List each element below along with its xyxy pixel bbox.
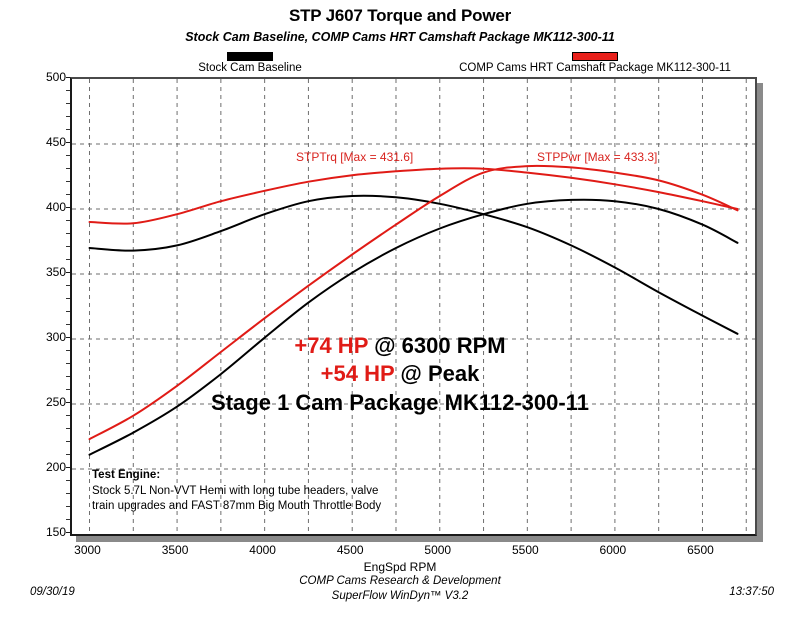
y-tick-150: 150 bbox=[26, 526, 66, 538]
legend-label-baseline: Stock Cam Baseline bbox=[125, 62, 375, 74]
y-tick-450: 450 bbox=[26, 136, 66, 148]
legend-swatch-comp-cams bbox=[572, 52, 618, 61]
footer-center: COMP Cams Research & Development SuperFl… bbox=[0, 574, 800, 604]
chart-legend: Stock Cam Baseline COMP Cams HRT Camshaf… bbox=[0, 52, 800, 76]
y-axis-tick-labels: 150200250300350400450500 bbox=[22, 0, 66, 618]
x-tick-4000: 4000 bbox=[233, 543, 293, 557]
x-axis-tick-labels: 30003500400045005000550060006500 bbox=[0, 543, 800, 559]
footer-time: 13:37:50 bbox=[729, 586, 774, 598]
x-tick-6000: 6000 bbox=[583, 543, 643, 557]
y-tick-200: 200 bbox=[26, 461, 66, 473]
test-engine-line-1: Stock 5.7L Non-VVT Hemi with long tube h… bbox=[92, 484, 492, 500]
test-engine-line-2: train upgrades and FAST 87mm Big Mouth T… bbox=[92, 499, 492, 515]
test-engine-note: Test Engine: Stock 5.7L Non-VVT Hemi wit… bbox=[92, 468, 492, 515]
x-tick-5500: 5500 bbox=[495, 543, 555, 557]
page-subtitle: Stock Cam Baseline, COMP Cams HRT Camsha… bbox=[0, 30, 800, 44]
y-tick-250: 250 bbox=[26, 396, 66, 408]
footer-org: COMP Cams Research & Development bbox=[0, 574, 800, 589]
legend-item-baseline: Stock Cam Baseline bbox=[125, 52, 375, 74]
x-tick-3500: 3500 bbox=[145, 543, 205, 557]
series-label-power: STPPwr [Max = 433.3] bbox=[537, 150, 657, 164]
x-tick-4500: 4500 bbox=[320, 543, 380, 557]
data-curves bbox=[72, 79, 755, 534]
legend-item-comp-cams: COMP Cams HRT Camshaft Package MK112-300… bbox=[395, 52, 795, 74]
legend-label-comp-cams: COMP Cams HRT Camshaft Package MK112-300… bbox=[395, 62, 795, 74]
y-tick-350: 350 bbox=[26, 266, 66, 278]
x-tick-6500: 6500 bbox=[670, 543, 730, 557]
y-tick-300: 300 bbox=[26, 331, 66, 343]
y-tick-500: 500 bbox=[26, 71, 66, 83]
test-engine-heading: Test Engine: bbox=[92, 468, 492, 484]
x-axis-title: EngSpd RPM bbox=[0, 560, 800, 574]
y-tick-400: 400 bbox=[26, 201, 66, 213]
x-tick-3000: 3000 bbox=[58, 543, 118, 557]
series-label-torque: STPTrq [Max = 431.6] bbox=[296, 150, 413, 164]
legend-swatch-baseline bbox=[227, 52, 273, 61]
page-title: STP J607 Torque and Power bbox=[0, 6, 800, 26]
x-tick-5000: 5000 bbox=[408, 543, 468, 557]
footer-software: SuperFlow WinDyn™ V3.2 bbox=[0, 589, 800, 604]
